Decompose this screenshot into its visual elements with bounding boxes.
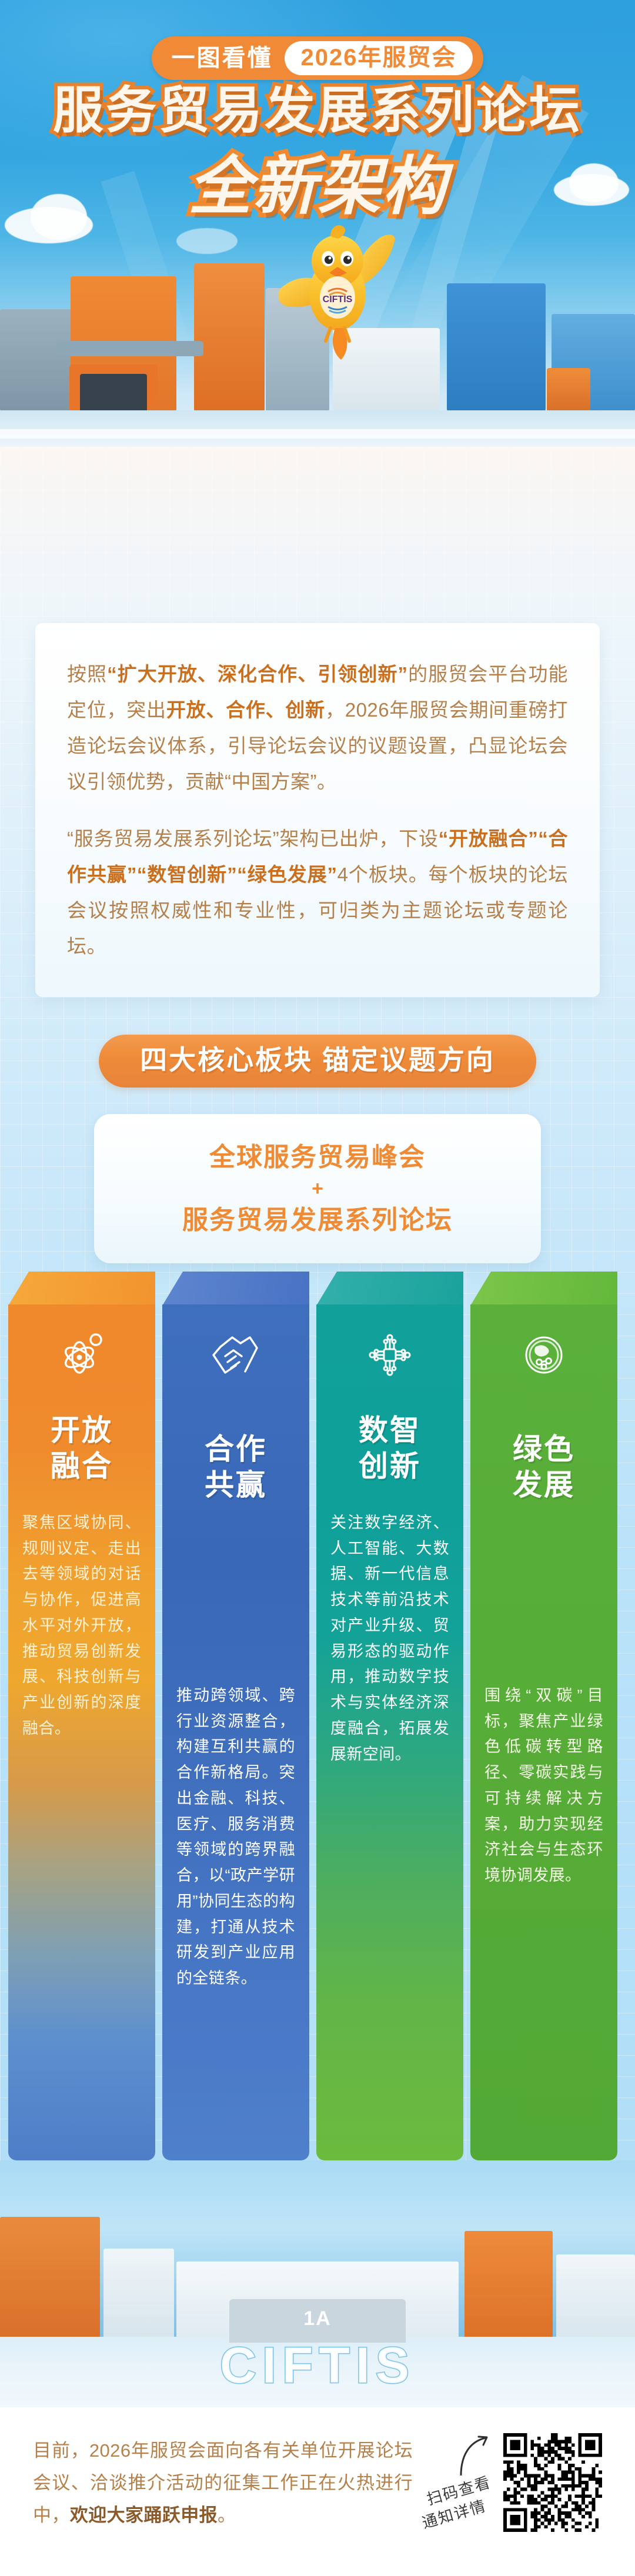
pillar-label-line-1: 开放 xyxy=(8,1413,155,1448)
atom-icon xyxy=(54,1327,110,1383)
building-block xyxy=(447,283,546,412)
pavilion-canopy xyxy=(56,341,203,356)
building-block xyxy=(103,2249,174,2340)
qr-block[interactable]: 扫码查看 通知详情 xyxy=(425,2431,602,2533)
venue-gate-label: 1A xyxy=(303,2307,331,2330)
pillar-description: 聚焦区域协同、规则议定、走出去等领域的对话与协作，促进高水平对外开放，推动贸易创… xyxy=(22,1510,141,1742)
summit-card: 全球服务贸易峰会 + 服务贸易发展系列论坛 xyxy=(94,1114,541,1263)
ciftis-mascot-bird: CIFTIS xyxy=(269,219,406,366)
footer-call-to-action: 目前，2026年服贸会面向各有关单位开展论坛会议、洽谈推介活动的征集工作正在火热… xyxy=(33,2431,413,2532)
summit-line-1: 全球服务贸易峰会 xyxy=(112,1141,523,1174)
pillar-digital-intelligent-innovation: 数智 创新 关注数字经济、人工智能、大数据、新一代信息技术等前沿技术对产业升级、… xyxy=(316,1272,463,2160)
pillar-label: 绿色 发展 xyxy=(470,1431,617,1503)
footer-text-post: 。 xyxy=(218,2505,236,2525)
cloud xyxy=(176,228,238,254)
chip-circuit-icon xyxy=(362,1327,418,1383)
pillar-label-line-2: 共赢 xyxy=(162,1467,309,1503)
badge-label-understand: 一图看懂 xyxy=(172,46,275,70)
building-block xyxy=(547,368,590,412)
pillar-label-line-2: 发展 xyxy=(470,1467,617,1503)
intro-paragraph-2: “服务贸易发展系列论坛”架构已出炉，下设“开放融合”“合作共赢”“数智创新”“绿… xyxy=(67,821,568,964)
pillar-label-line-1: 数智 xyxy=(316,1413,463,1448)
infographic-poster: 一图看懂 2026年服贸会 服务贸易发展系列论坛 全新架构 xyxy=(0,0,635,2576)
pillar-green-development: 绿色 发展 围绕“双碳”目标，聚焦产业绿色低碳转型路径、零碳实践与可持续解决方案… xyxy=(470,1272,617,2160)
footer-venue-scene: 1A CIFTIS xyxy=(0,2160,635,2407)
pillar-label: 合作 共赢 xyxy=(162,1431,309,1503)
pillar-description: 围绕“双碳”目标，聚焦产业绿色低碳转型路径、零碳实践与可持续解决方案，助力实现经… xyxy=(484,1683,603,1889)
intro-p2-pre: “服务贸易发展系列论坛”架构已出炉，下设 xyxy=(67,828,439,849)
pillar-open-integration: 开放 融合 聚焦区域协同、规则议定、走出去等领域的对话与协作，促进高水平对外开放… xyxy=(8,1272,155,2160)
pillar-label: 开放 融合 xyxy=(8,1413,155,1484)
qr-code[interactable] xyxy=(503,2433,602,2532)
pillar-top-face xyxy=(8,1272,155,1306)
globe-leaf-icon xyxy=(516,1327,572,1383)
badge-label-year: 2026年服贸会 xyxy=(285,41,473,75)
intro-p2-highlight-4: “绿色发展” xyxy=(237,864,337,885)
intro-p1-highlight-1: “扩大开放、深化合作、引领创新” xyxy=(107,663,407,685)
pillar-top-face xyxy=(470,1272,617,1306)
section-heading-text: 四大核心板块 锚定议题方向 xyxy=(140,1045,495,1075)
pillar-top-face xyxy=(316,1272,463,1306)
intro-card: 按照“扩大开放、深化合作、引领创新”的服贸会平台功能定位，突出开放、合作、创新，… xyxy=(35,623,600,997)
pillar-description: 推动跨领域、跨行业资源整合，构建互利共赢的合作新格局。突出金融、科技、医疗、服务… xyxy=(176,1683,295,1992)
handshake-icon xyxy=(208,1327,264,1383)
four-pillars-group: 开放 融合 聚焦区域协同、规则议定、走出去等领域的对话与协作，促进高水平对外开放… xyxy=(0,1243,635,2160)
plaza-walkway xyxy=(0,429,635,439)
intro-p1-highlight-2: 开放、合作、创新 xyxy=(166,699,325,721)
footer-text-bold: 欢迎大家踊跃申报 xyxy=(70,2505,218,2525)
summit-plus-symbol: + xyxy=(112,1174,523,1204)
summit-line-2: 服务贸易发展系列论坛 xyxy=(112,1204,523,1237)
building-block xyxy=(0,2217,100,2340)
section-heading-pill: 四大核心板块 锚定议题方向 xyxy=(99,1035,536,1088)
pillar-label-line-1: 绿色 xyxy=(470,1431,617,1467)
building-block xyxy=(464,2231,553,2340)
pillar-win-win-cooperation: 合作 共赢 推动跨领域、跨行业资源整合，构建互利共赢的合作新格局。突出金融、科技… xyxy=(162,1272,309,2160)
building-block xyxy=(194,263,265,412)
pillar-description: 关注数字经济、人工智能、大数据、新一代信息技术等前沿技术对产业升级、贸易形态的驱… xyxy=(330,1510,449,1767)
intro-p2-highlight-3: “数智创新” xyxy=(137,864,237,885)
intro-paragraph-1: 按照“扩大开放、深化合作、引领创新”的服贸会平台功能定位，突出开放、合作、创新，… xyxy=(67,656,568,799)
pillar-label: 数智 创新 xyxy=(316,1413,463,1484)
hero-badge-row: 一图看懂 2026年服贸会 xyxy=(0,36,635,80)
page-subtitle: 全新架构 xyxy=(0,154,635,220)
qr-instruction: 扫码查看 通知详情 xyxy=(425,2433,495,2533)
pavilion-entrance-opening xyxy=(80,374,147,412)
pillar-label-line-2: 融合 xyxy=(8,1448,155,1484)
intro-p1-pre: 按照 xyxy=(67,663,107,685)
hero-banner: 一图看懂 2026年服贸会 服务贸易发展系列论坛 全新架构 xyxy=(0,0,635,459)
pillar-label-line-2: 创新 xyxy=(316,1448,463,1484)
ciftis-wordmark: CIFTIS xyxy=(0,2337,635,2395)
hero-badge: 一图看懂 2026年服贸会 xyxy=(152,36,484,80)
page-title: 服务贸易发展系列论坛 xyxy=(0,82,635,139)
pillar-top-face xyxy=(162,1272,309,1306)
footer-bar: 目前，2026年服贸会面向各有关单位开展论坛会议、洽谈推介活动的征集工作正在火热… xyxy=(0,2407,635,2576)
intro-p2-highlight-1: “开放融合” xyxy=(439,828,538,849)
pillar-label-line-1: 合作 xyxy=(162,1431,309,1467)
building-block xyxy=(556,2254,635,2340)
content-panel: 按照“扩大开放、深化合作、引领创新”的服贸会平台功能定位，突出开放、合作、创新，… xyxy=(0,447,635,2576)
svg-text:CIFTIS: CIFTIS xyxy=(323,295,353,305)
